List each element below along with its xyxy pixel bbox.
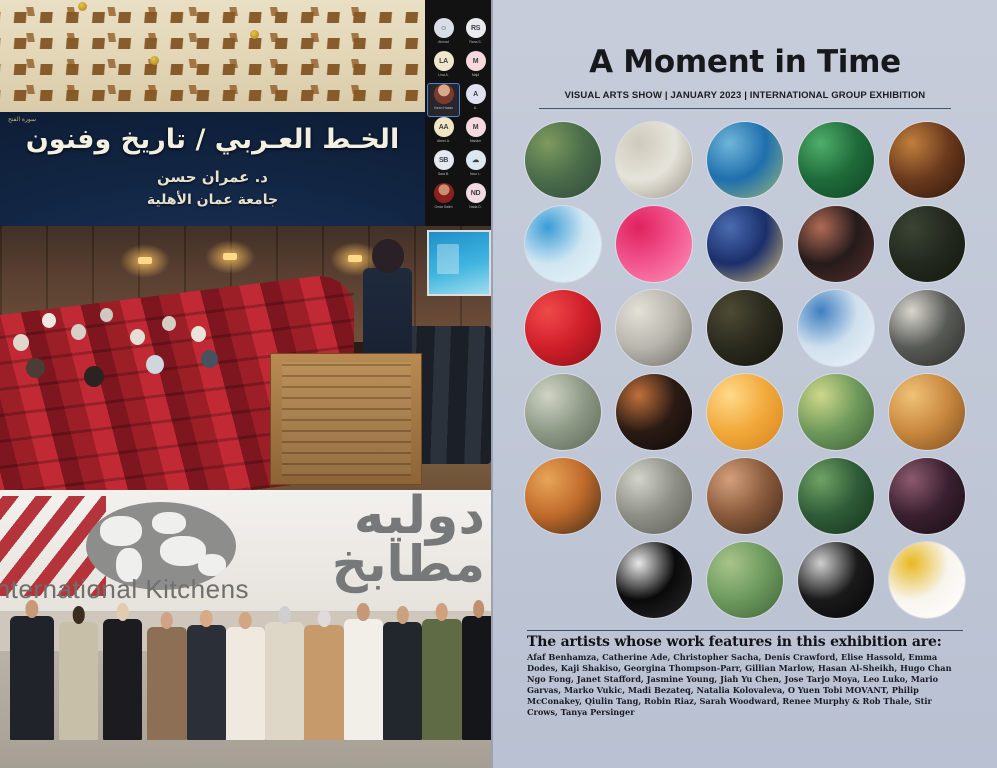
mosaic-green-artwork (525, 122, 601, 198)
warm-interior-artwork (889, 374, 965, 450)
divider-bottom (527, 630, 963, 631)
xray-hand-artwork (616, 542, 692, 618)
international-kitchens-banner: International Kitchens دوليه مطابخ (0, 490, 491, 612)
orange-sphere-artwork (707, 374, 783, 450)
crossed-arms-artwork (707, 458, 783, 534)
yellow-griffin-logo (889, 542, 965, 618)
white-architecture-artwork (616, 122, 692, 198)
lecture-slide-panel: سورة الفتح الخـط العـربي / تاريخ وفنون د… (0, 0, 491, 226)
people-group (0, 596, 491, 741)
participant-tile[interactable]: M Mariam (460, 117, 491, 149)
avatar (434, 183, 454, 203)
left-photo-column: سورة الفتح الخـط العـربي / تاريخ وفنون د… (0, 0, 491, 768)
participant-name: Abeer A. (437, 139, 450, 143)
kufic-manuscript-image (0, 0, 425, 112)
landscape-green-artwork (798, 374, 874, 450)
participant-name: Rana S. (469, 40, 481, 44)
blue-white-abstract-artwork (525, 206, 601, 282)
dark-figure-artwork (889, 458, 965, 534)
participant-name: Ahmad (438, 40, 449, 44)
video-call-participant-rail[interactable]: ☺ Ahmad RS Rana S. LA Lina A. M Majd (425, 0, 491, 226)
grey-white-texture-artwork (889, 290, 965, 366)
slide-presenter-name: د. عمران حسن (0, 168, 425, 186)
food-bowl-artwork (525, 458, 601, 534)
participant-name: Lina A. (438, 73, 448, 77)
participant-name: Nada D. (469, 205, 481, 209)
participant-name: Nour L. (470, 172, 481, 176)
participant-tile[interactable]: RS Rana S. (460, 18, 491, 50)
participant-tile-active[interactable]: Imran Hasan (428, 84, 459, 116)
wall-sconce-icon (120, 244, 170, 278)
auditorium-photo (0, 226, 491, 490)
night-sky-artwork (707, 206, 783, 282)
participant-tile[interactable]: ND Nada D. (460, 183, 491, 215)
photo-collage: سورة الفتح الخـط العـربي / تاريخ وفنون د… (0, 0, 997, 768)
figure-dark-artwork (798, 206, 874, 282)
avatar: ND (466, 183, 486, 203)
wooden-podium (270, 353, 422, 485)
participant-name: Omar Saleh (434, 205, 452, 209)
dark-green-texture-artwork (889, 206, 965, 282)
credits-artist-list: Afaf Benhamza, Catherine Ade, Christophe… (527, 652, 963, 717)
avatar: ☺ (434, 18, 454, 38)
avatar: SB (434, 150, 454, 170)
slide-affiliation: جامعة عمان الأهلية (0, 192, 425, 208)
blue-landscape-artwork (707, 122, 783, 198)
slide-title: الخـط العـربي / تاريخ وفنون (0, 124, 425, 155)
participant-name: Imran Hasan (434, 106, 453, 110)
blue-light-artwork (798, 290, 874, 366)
olive-dark-artwork (707, 290, 783, 366)
grey-field-artwork (616, 458, 692, 534)
avatar: M (466, 117, 486, 137)
avatar: M (466, 51, 486, 71)
wall-sconce-icon (205, 240, 255, 274)
green-abstract-artwork (798, 122, 874, 198)
exhibition-poster: A Moment in Time VISUAL ARTS SHOW | JANU… (491, 0, 997, 768)
pink-portrait-artwork (616, 206, 692, 282)
avatar: A (466, 84, 486, 104)
group-photo: International Kitchens دوليه مطابخ (0, 490, 491, 768)
credits-heading: The artists whose work features in this … (527, 634, 963, 650)
black-white-portrait-artwork (798, 542, 874, 618)
green-foliage-artwork (798, 458, 874, 534)
participant-name: Mariam (470, 139, 481, 143)
avatar: RS (466, 18, 486, 38)
participant-tile[interactable]: A A. (460, 84, 491, 116)
avatar (434, 84, 454, 104)
avatar: ☁ (466, 150, 486, 170)
participant-tile[interactable]: Omar Saleh (428, 183, 459, 215)
grey-stone-artwork (616, 290, 692, 366)
participant-name: A. (474, 106, 477, 110)
participant-name: Sara B. (438, 172, 449, 176)
participant-tile[interactable]: ☁ Nour L. (460, 150, 491, 182)
participant-tile[interactable]: LA Lina A. (428, 51, 459, 83)
projection-screen (427, 230, 491, 296)
participant-tile[interactable]: AA Abeer A. (428, 117, 459, 149)
divider-top (539, 108, 951, 109)
avatar: AA (434, 117, 454, 137)
participant-tile[interactable]: ☺ Ahmad (428, 18, 459, 50)
stone-sculpture-artwork (525, 374, 601, 450)
participant-name: Majd (472, 73, 479, 77)
poster-title: A Moment in Time (493, 44, 997, 80)
participant-tile[interactable]: M Majd (460, 51, 491, 83)
artwork-thumbnail-grid (523, 122, 967, 618)
manuscript-caption: سورة الفتح (8, 116, 36, 123)
red-abstract-artwork (525, 290, 601, 366)
green-tree-artwork (707, 542, 783, 618)
hand-fire-artwork (616, 374, 692, 450)
banner-arabic-line-1: دوليه (200, 492, 485, 541)
poster-subtitle: VISUAL ARTS SHOW | JANUARY 2023 | INTERN… (493, 90, 997, 101)
banner-text-arabic: دوليه مطابخ (200, 492, 485, 589)
presentation-slide: سورة الفتح الخـط العـربي / تاريخ وفنون د… (0, 0, 425, 226)
banner-arabic-line-2: مطابخ (200, 541, 485, 589)
participant-tile[interactable]: SB Sara B. (428, 150, 459, 182)
brown-figure-artwork (889, 122, 965, 198)
avatar: LA (434, 51, 454, 71)
